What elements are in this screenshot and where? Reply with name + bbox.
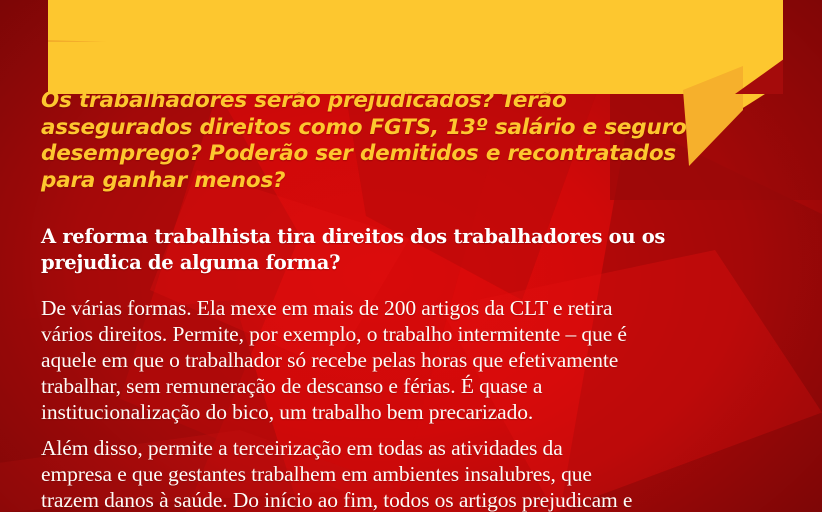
body-line: vários direitos. Permite, por exemplo, o…: [41, 321, 801, 347]
subhead-line: prejudica de alguma forma?: [41, 250, 761, 276]
lead-line: para ganhar menos?: [41, 168, 741, 195]
lead-question: Os trabalhadores serão prejudicados? Ter…: [41, 88, 741, 194]
body-line: trabalhar, sem remuneração de descanso e…: [41, 373, 801, 399]
poster-slide: Os trabalhadores serão prejudicados? Ter…: [0, 0, 822, 512]
lead-line: Os trabalhadores serão prejudicados? Ter…: [41, 88, 741, 115]
body-line: De várias formas. Ela mexe em mais de 20…: [41, 295, 801, 321]
body-line: institucionalização do bico, um trabalho…: [41, 399, 801, 425]
body-line: Além disso, permite a terceirização em t…: [41, 435, 801, 461]
body-line: empresa e que gestantes trabalhem em amb…: [41, 461, 801, 487]
content-area: Os trabalhadores serão prejudicados? Ter…: [0, 0, 822, 512]
answer-body-text: De várias formas. Ela mexe em mais de 20…: [41, 285, 801, 512]
lead-line: assegurados direitos como FGTS, 13º salá…: [41, 115, 741, 142]
body-line: trazem danos à saúde. Do início ao fim, …: [41, 487, 801, 512]
body-line: aquele em que o trabalhador só recebe pe…: [41, 347, 801, 373]
lead-line: desemprego? Poderão ser demitidos e reco…: [41, 141, 741, 168]
subhead-line: A reforma trabalhista tira direitos dos …: [41, 224, 761, 250]
section-question-heading: A reforma trabalhista tira direitos dos …: [41, 224, 761, 276]
